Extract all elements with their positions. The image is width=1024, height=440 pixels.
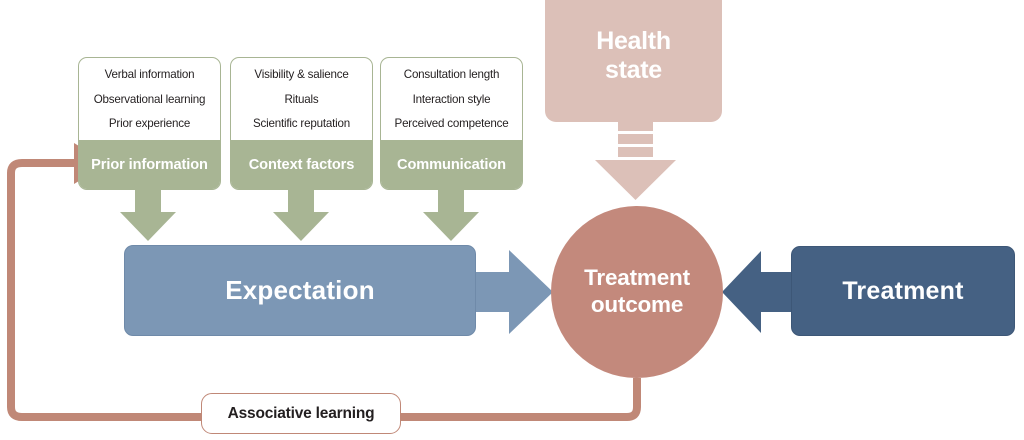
- expectation-to-treatment-outcome-arrow: [474, 250, 553, 334]
- determinant-label-prior-information: Prior information: [79, 140, 220, 189]
- determinant-label-context-factors: Context factors: [231, 140, 372, 189]
- health-state-to-treatment-outcome-arrow: [595, 121, 676, 200]
- determinant-item: Observational learning: [94, 94, 206, 107]
- determinant-box-context-factors[interactable]: Visibility & salience Rituals Scientific…: [230, 57, 373, 190]
- context-factors-to-expectation-arrow: [273, 188, 329, 241]
- treatment-to-treatment-outcome-arrow: [722, 251, 792, 333]
- treatment-outcome-line-2: outcome: [584, 292, 690, 319]
- determinant-box-communication[interactable]: Consultation length Interaction style Pe…: [380, 57, 523, 190]
- determinant-items: Consultation length Interaction style Pe…: [381, 58, 522, 140]
- determinant-item: Prior experience: [109, 118, 190, 131]
- determinant-item: Scientific reputation: [253, 118, 350, 131]
- associative-learning-label[interactable]: Associative learning: [201, 393, 401, 434]
- determinant-item: Consultation length: [404, 69, 499, 82]
- communication-to-expectation-arrow: [423, 188, 479, 241]
- health-state-text: Health state: [596, 27, 671, 86]
- treatment-node[interactable]: Treatment: [791, 246, 1015, 336]
- health-state-line-1: Health: [596, 27, 671, 57]
- treatment-outcome-line-1: Treatment: [584, 265, 690, 292]
- determinant-item: Visibility & salience: [254, 69, 348, 82]
- determinant-item: Rituals: [284, 94, 318, 107]
- diagram-canvas: Verbal information Observational learnin…: [0, 0, 1024, 440]
- determinant-item: Verbal information: [105, 69, 195, 82]
- determinant-label-communication: Communication: [381, 140, 522, 189]
- determinant-item: Interaction style: [413, 94, 491, 107]
- determinant-items: Verbal information Observational learnin…: [79, 58, 220, 140]
- expectation-node[interactable]: Expectation: [124, 245, 476, 336]
- prior-information-to-expectation-arrow: [120, 188, 176, 241]
- treatment-outcome-node[interactable]: Treatment outcome: [551, 206, 723, 378]
- health-state-line-2: state: [596, 56, 671, 86]
- treatment-outcome-text: Treatment outcome: [584, 265, 690, 318]
- determinant-box-prior-information[interactable]: Verbal information Observational learnin…: [78, 57, 221, 190]
- determinant-item: Perceived competence: [395, 118, 509, 131]
- determinant-items: Visibility & salience Rituals Scientific…: [231, 58, 372, 140]
- health-state-node[interactable]: Health state: [545, 0, 722, 122]
